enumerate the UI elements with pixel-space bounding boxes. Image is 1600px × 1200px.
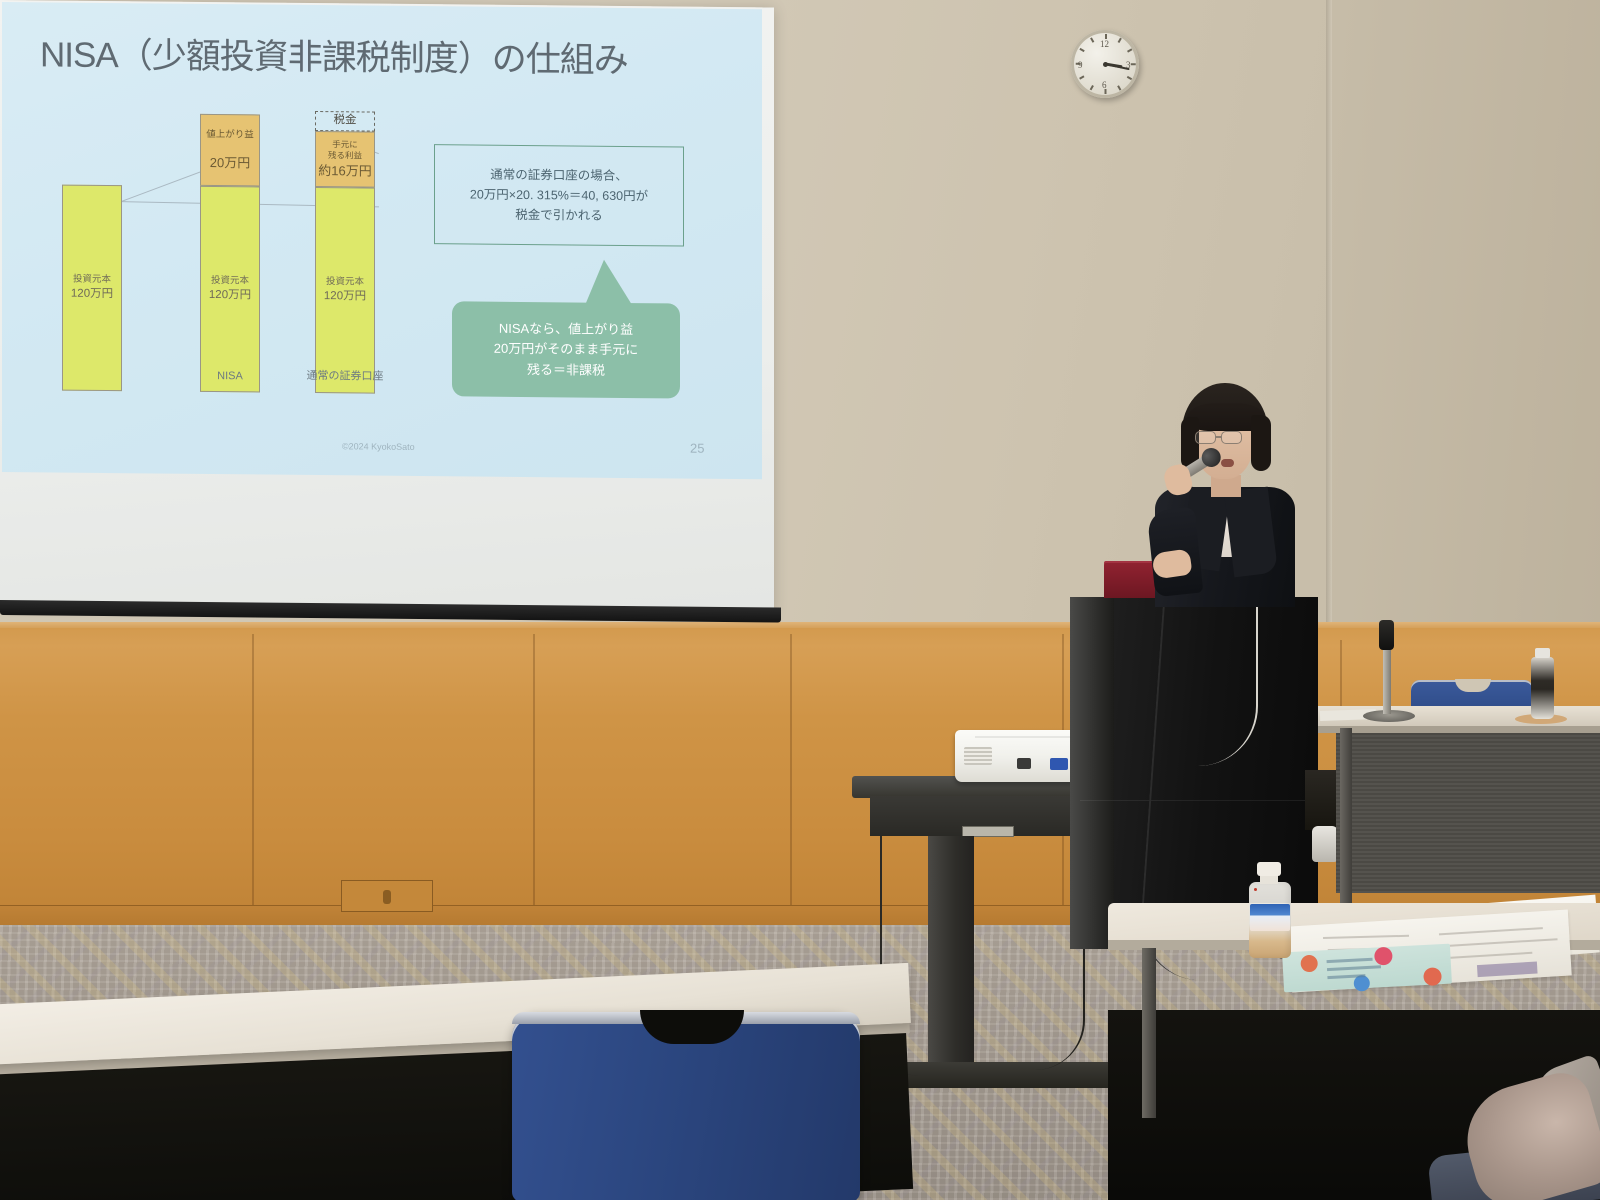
wall-access-panel <box>341 880 433 912</box>
clock-numeral-12: 12 <box>1100 39 1109 49</box>
callout-tail <box>584 260 634 308</box>
info-line-2: 20万円×20. 315%＝40, 630円が <box>470 184 648 206</box>
presenter <box>1125 383 1295 603</box>
bar-column-1: 投資元本 120万円 <box>62 185 122 392</box>
projector-vga-port <box>1050 758 1068 770</box>
segment-label: 投資元本 <box>211 275 249 288</box>
eyeglasses-right-lens <box>1221 431 1242 444</box>
wall-clock: 12 3 6 9 <box>1071 30 1139 98</box>
eyeglasses-left-lens <box>1195 431 1216 444</box>
callout-line-1: NISAなら、値上がり益 <box>494 319 638 341</box>
bar-segment-gain: 値上がり益 20万円 <box>200 114 260 187</box>
projector-port <box>1017 758 1031 769</box>
drink-bottle-front-table <box>1247 862 1293 958</box>
bottle-label <box>1250 904 1290 931</box>
segment-label-line2: 残る利益 <box>328 150 362 162</box>
nisa-bar-chart: 投資元本 120万円 値上がり益 20万円 投資元本 120万円 NISA <box>62 113 432 427</box>
projected-slide: NISA（少額投資非課税制度）の仕組み 投資元本 120万円 値上がり益 <box>2 2 762 479</box>
wainscot-seam <box>790 634 792 920</box>
nisa-callout: NISAなら、値上がり益 20万円がそのまま手元に 残る＝非課税 <box>452 301 680 398</box>
presentation-room-photo: 12 3 6 9 NISA（少額投資非課税制度）の仕組み 投資元本 120万円 <box>0 0 1600 1200</box>
bar-segment-principal: 投資元本 120万円 <box>62 185 122 392</box>
segment-amount: 120万円 <box>324 289 366 305</box>
bottle-cap <box>1257 862 1281 876</box>
bar-caption-normal-account: 通常の証券口座 <box>285 367 405 384</box>
bar-segment-principal: 投資元本 120万円 <box>315 187 375 394</box>
floor-bag <box>1305 770 1339 830</box>
bar-segment-remaining-profit: 手元に 残る利益 約16万円 <box>315 131 375 188</box>
laser-pointer-dot <box>1254 888 1257 891</box>
panel-knob <box>383 890 391 904</box>
segment-amount: 約16万円 <box>318 162 371 180</box>
water-bottle-side-table <box>1529 648 1556 720</box>
bar-column-nisa: 値上がり益 20万円 投資元本 120万円 NISA <box>200 114 260 393</box>
side-table-modesty-panel <box>1336 733 1600 893</box>
info-line-3: 税金で引かれる <box>470 204 648 226</box>
right-wall-face <box>1332 0 1600 660</box>
bar-column-normal-account: 税金 手元に 残る利益 約16万円 投資元本 120万円 通常の証券口座 <box>315 111 375 394</box>
bottle-cap <box>1535 648 1550 658</box>
segment-amount: 20万円 <box>210 154 250 172</box>
bar-caption-nisa: NISA <box>200 370 260 383</box>
projection-screen: NISA（少額投資非課税制度）の仕組み 投資元本 120万円 値上がり益 <box>0 0 783 630</box>
segment-label: 投資元本 <box>73 274 111 287</box>
callout-line-3: 残る＝非課税 <box>494 359 638 381</box>
microphone-stand-head-icon <box>1379 620 1394 650</box>
shoe <box>1312 826 1338 862</box>
wainscot-seam <box>533 634 535 920</box>
clock-numeral-6: 6 <box>1102 80 1107 90</box>
projector-vent <box>964 747 992 765</box>
presenter-hair-side-right <box>1251 415 1271 471</box>
front-table-leg <box>1142 948 1156 1118</box>
segment-amount: 120万円 <box>209 288 251 304</box>
segment-label: 税金 <box>334 113 357 129</box>
clock-numeral-9: 9 <box>1078 60 1083 70</box>
wall-corner <box>1326 0 1332 640</box>
tax-info-box: 通常の証券口座の場合、 20万円×20. 315%＝40, 630円が 税金で引… <box>434 144 684 246</box>
side-table-edge <box>1318 726 1600 733</box>
slide-page-number: 25 <box>690 441 704 456</box>
segment-label-line1: 手元に <box>332 139 358 151</box>
slide-title: NISA（少額投資非課税制度）の仕組み <box>40 26 628 83</box>
slide-copyright: ©2024 KyokoSato <box>342 441 415 452</box>
segment-amount: 120万円 <box>71 286 113 302</box>
eyeglasses-bridge <box>1216 436 1222 438</box>
bar-segment-principal: 投資元本 120万円 <box>200 186 260 393</box>
bottle-body <box>1531 657 1554 719</box>
wainscot-seam <box>252 634 254 920</box>
segment-label: 値上がり益 <box>206 129 254 142</box>
lectern-side <box>1070 597 1114 949</box>
side-table-leg <box>1340 728 1352 910</box>
callout-line-2: 20万円がそのまま手元に <box>494 339 638 361</box>
bar-segment-tax: 税金 <box>315 111 375 132</box>
clock-center-pin <box>1103 62 1108 67</box>
segment-label: 投資元本 <box>326 276 364 289</box>
info-line-1: 通常の証券口座の場合、 <box>470 164 648 186</box>
presenter-mouth <box>1221 459 1234 467</box>
microphone-stand-pole <box>1383 648 1391 714</box>
